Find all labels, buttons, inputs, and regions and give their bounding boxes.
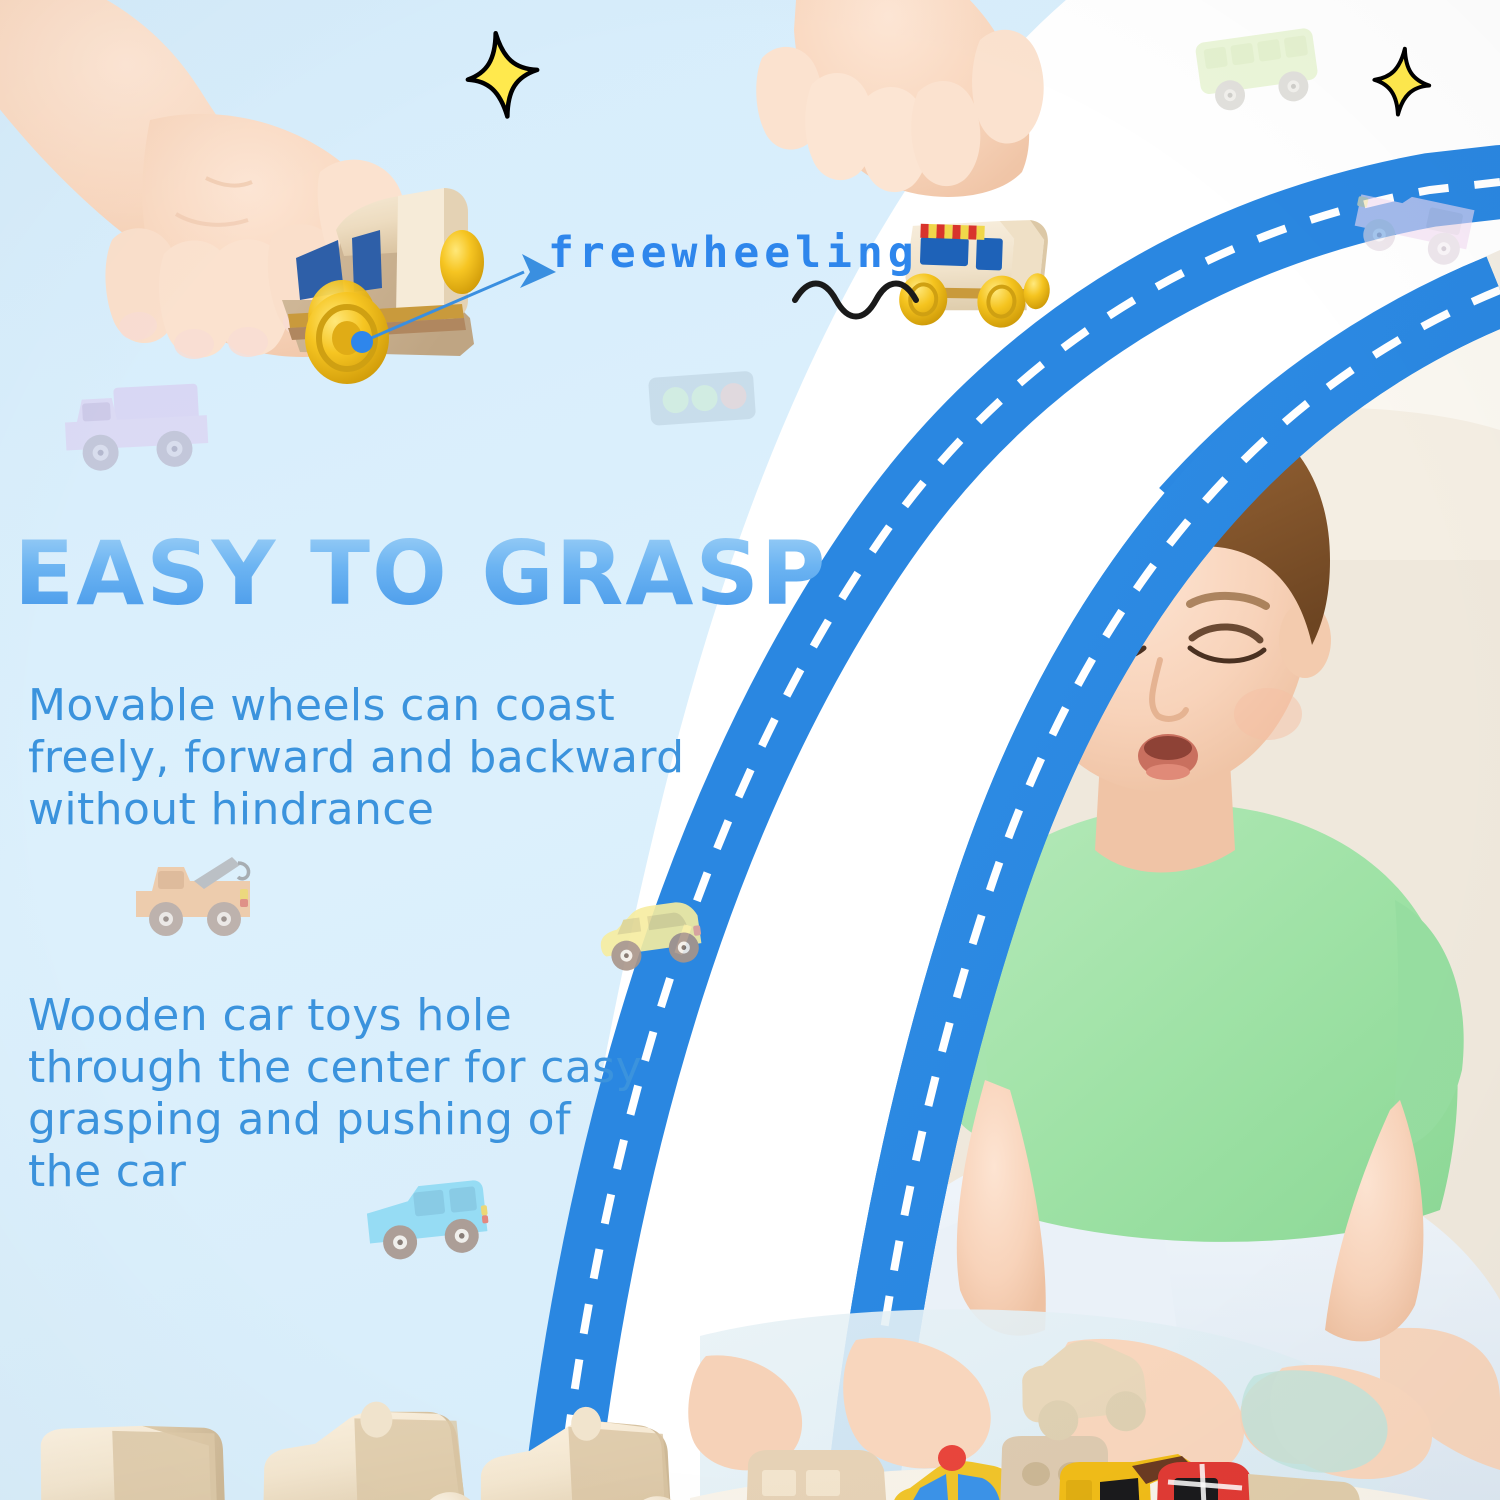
infographic-canvas: freewheeling EASY TO GRASP EASY TO GRASP…	[0, 0, 1500, 1500]
painted-toy-plain-bus	[746, 1450, 888, 1500]
photo-painted-wooden-car-set	[0, 106, 1500, 1500]
